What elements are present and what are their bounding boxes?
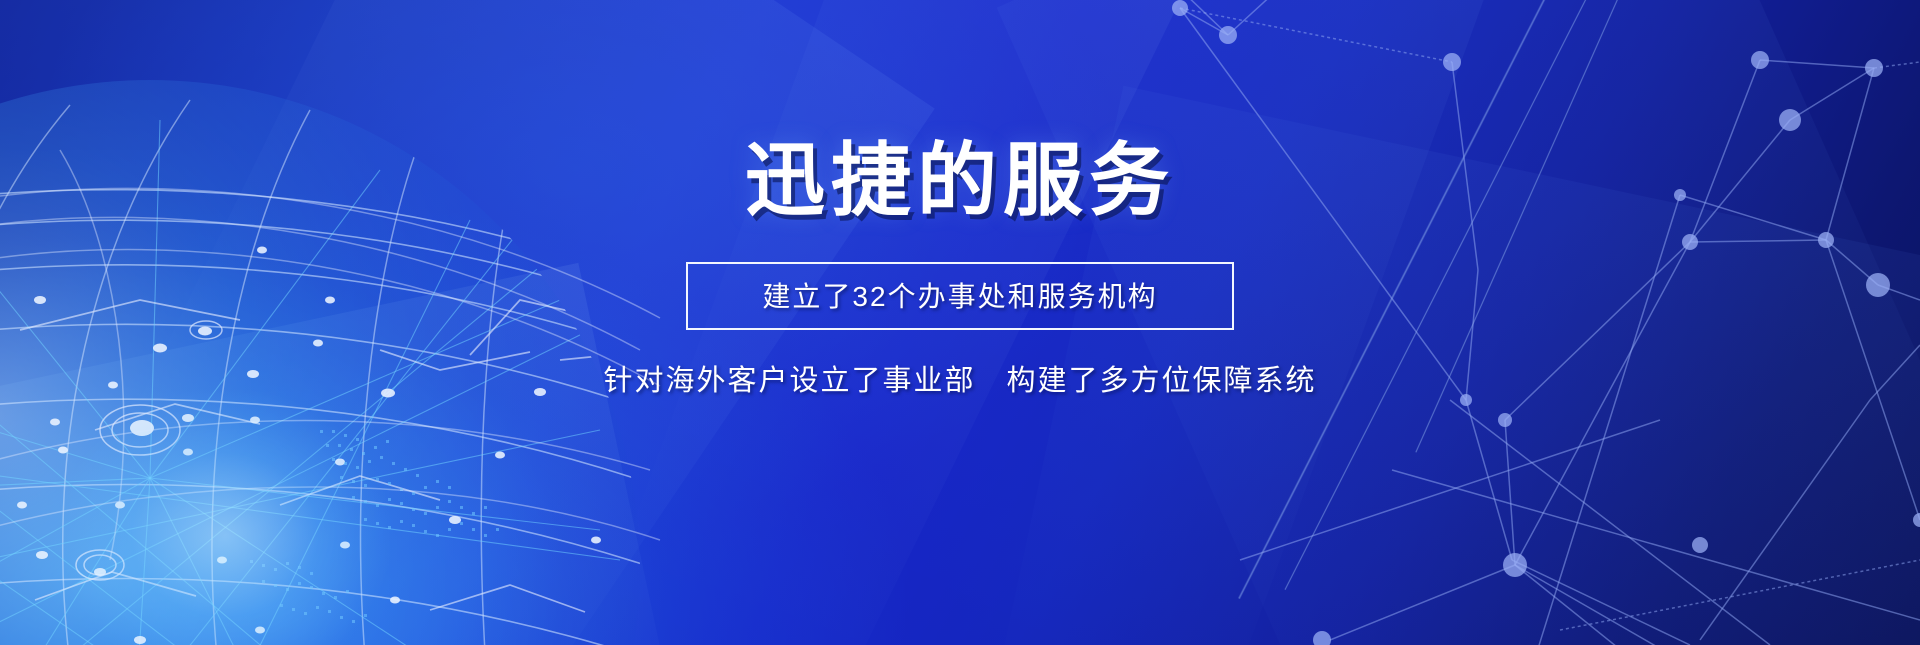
tagline: 针对海外客户设立了事业部 构建了多方位保障系统 xyxy=(603,357,1316,399)
banner-content: 迅捷的服务 建立了32个办事处和服务机构 针对海外客户设立了事业部 构建了多方位… xyxy=(0,0,1920,645)
highlight-box-label: 建立了32个办事处和服务机构 xyxy=(762,281,1157,312)
highlight-box: 建立了32个办事处和服务机构 xyxy=(686,262,1234,330)
service-banner: 迅捷的服务 建立了32个办事处和服务机构 针对海外客户设立了事业部 构建了多方位… xyxy=(0,0,1920,645)
page-title: 迅捷的服务 xyxy=(745,138,1175,224)
